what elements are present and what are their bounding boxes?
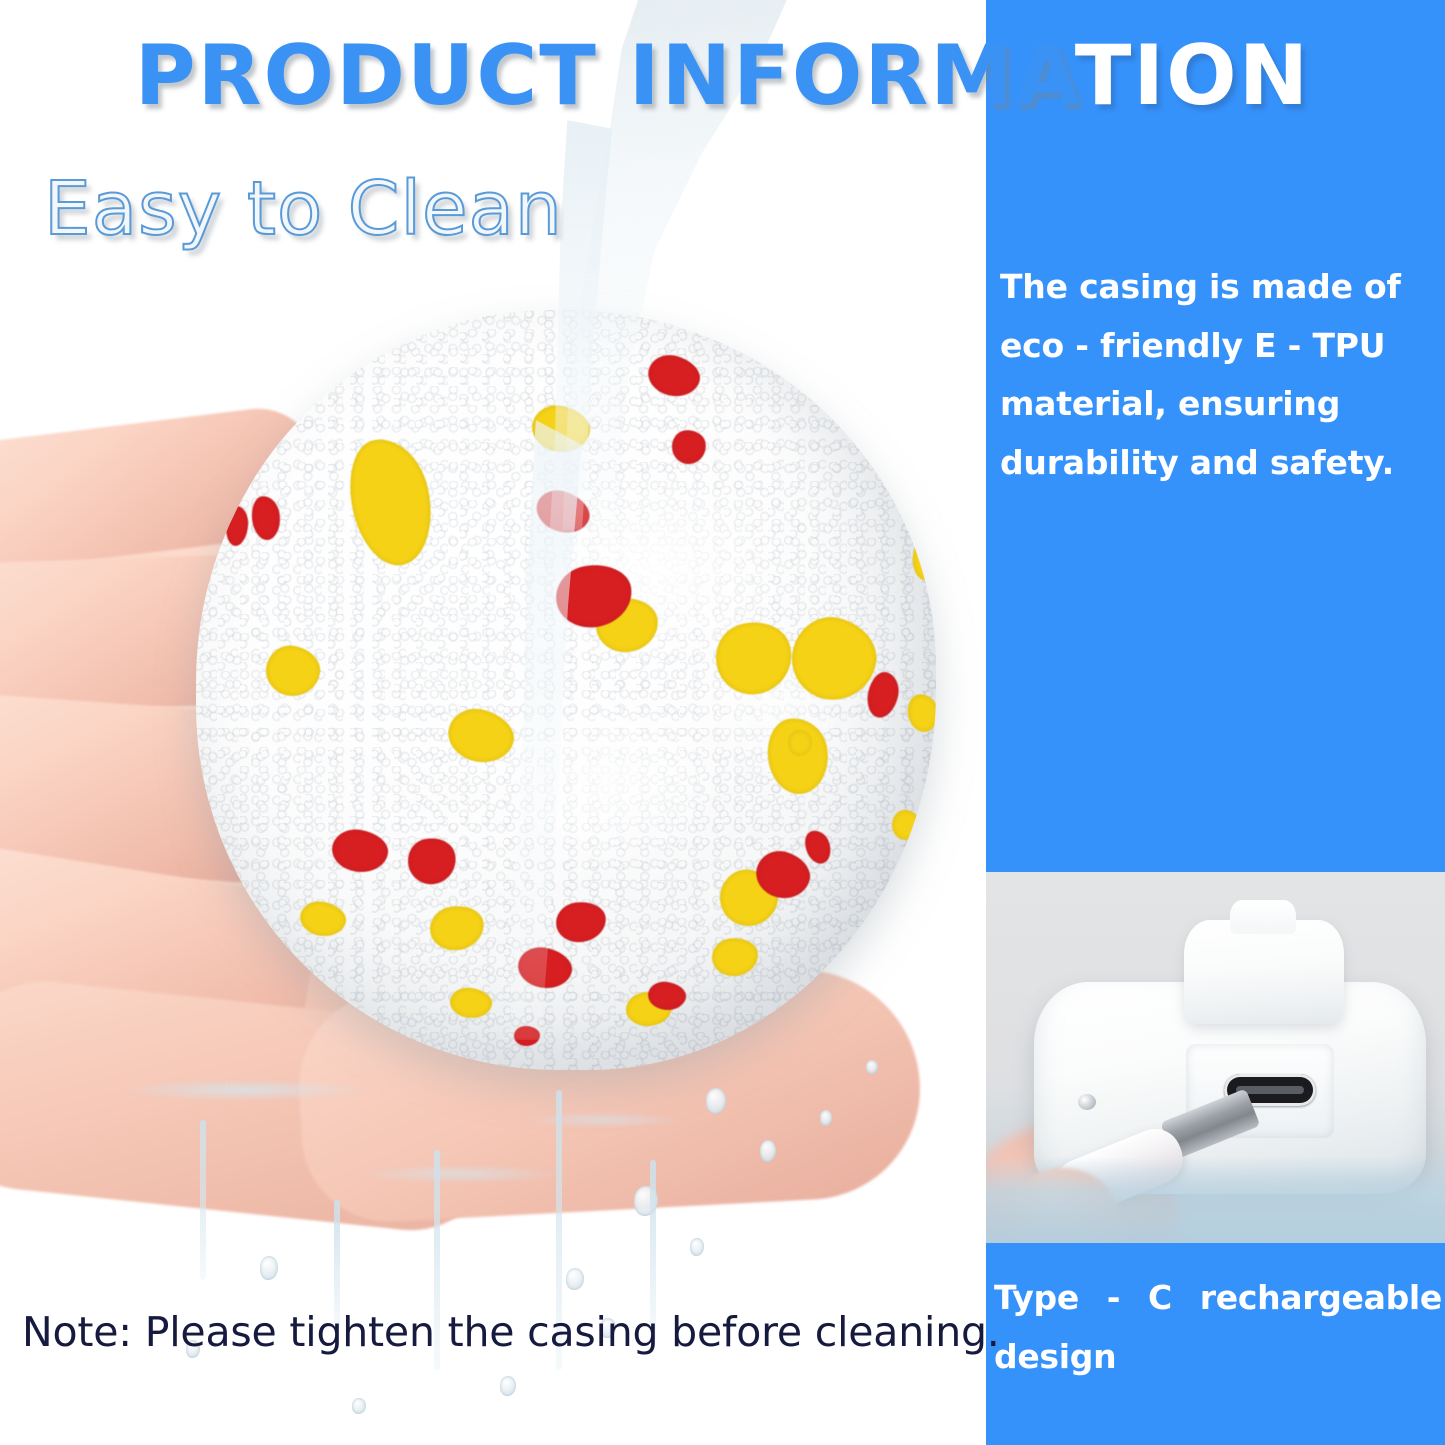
cleaning-note: Note: Please tighten the casing before c… [22,1308,1000,1356]
product-information-infographic: The casing is made of eco - friendly E -… [0,0,1445,1445]
water-droplet-icon [500,1376,516,1396]
inset-water [986,1157,1445,1243]
casing-material-paragraph: The casing is made of eco - friendly E -… [1000,258,1436,493]
subtitle-easy-to-clean: Easy to Clean [44,166,563,252]
page-title-white-segment: TION [1075,27,1311,124]
screw-dot-icon [1078,1094,1096,1110]
type-c-caption-line2: design [994,1327,1442,1386]
type-c-caption-line1: Type - C rechargeable [994,1268,1442,1327]
water-droplet-icon [352,1398,366,1414]
device-nub [1230,900,1296,934]
page-title: PRODUCT INFORMATION [0,22,1445,130]
type-c-port-photo [986,872,1445,1243]
water-splash [120,1030,740,1330]
device-cap [1184,920,1344,1024]
page-title-blue-segment: PRODUCT INFORMA [135,27,1075,124]
type-c-caption: Type - C rechargeable design [994,1268,1442,1387]
water-drip [200,1120,206,1280]
